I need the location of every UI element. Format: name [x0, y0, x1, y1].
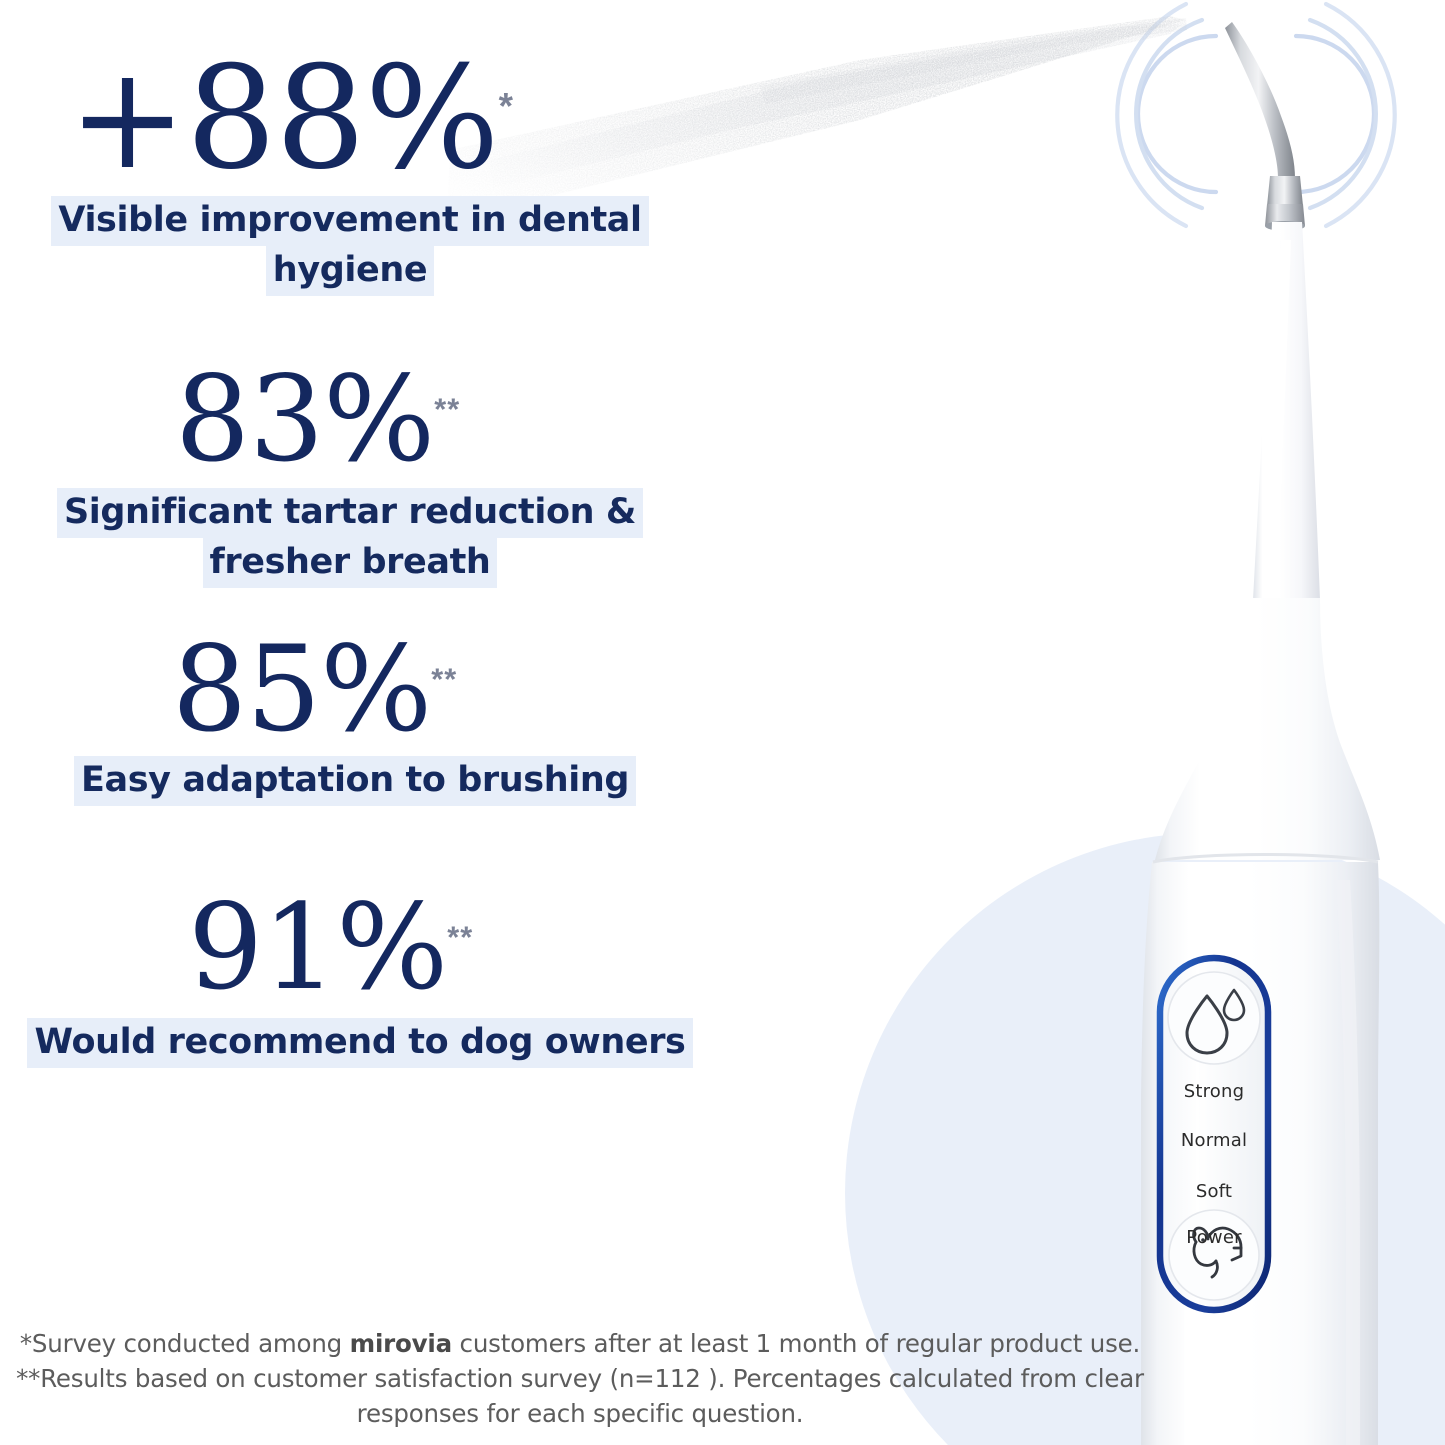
stat-label-line: Significant tartar reduction &	[57, 488, 643, 538]
stat-block-88: +88%* Visible improvement in dental hygi…	[0, 48, 760, 296]
stat-label-line: Would recommend to dog owners	[27, 1018, 692, 1068]
footnote-marker-88: *	[499, 86, 514, 127]
footnote-disclaimer: *Survey conducted among mirovia customer…	[0, 1327, 1160, 1431]
stat-block-83: 83%** Significant tartar reduction & fre…	[0, 360, 760, 588]
mode-label-normal[interactable]: Normal	[1166, 1130, 1262, 1151]
stat-label-line: Visible improvement in dental	[51, 196, 648, 246]
stat-label-85: Easy adaptation to brushing	[0, 756, 710, 806]
stat-number-83: 83%	[175, 350, 434, 488]
footnote-marker-91: **	[447, 920, 473, 955]
device-shaft	[1253, 222, 1320, 600]
scaler-metal-tip	[1225, 22, 1305, 231]
stat-label-91: Would recommend to dog owners	[0, 1018, 720, 1068]
footnote-line-2: **Results based on customer satisfaction…	[16, 1364, 1144, 1393]
stat-number-88: +88%	[68, 36, 499, 201]
mode-label-soft[interactable]: Soft	[1166, 1181, 1262, 1202]
footnote-line-3: responses for each specific question.	[357, 1399, 804, 1428]
mode-label-strong[interactable]: Strong	[1166, 1081, 1262, 1102]
stat-value-88: +88%*	[0, 48, 760, 190]
stat-number-85: 85%	[172, 620, 431, 758]
stat-label-line: hygiene	[266, 246, 434, 296]
brand-name: mirovia	[350, 1329, 452, 1358]
marketing-image-canvas: Strong Normal Soft Power	[0, 0, 1445, 1445]
stat-label-83: Significant tartar reduction & fresher b…	[0, 488, 700, 588]
footnote-text: customers after at least 1 month of regu…	[452, 1329, 1140, 1358]
footnote-text: *Survey conducted among	[20, 1329, 350, 1358]
stat-label-88: Visible improvement in dental hygiene	[0, 196, 700, 296]
stat-block-91: 91%** Would recommend to dog owners	[0, 888, 760, 1068]
footnote-marker-83: **	[434, 392, 460, 427]
mode-label-power[interactable]: Power	[1166, 1227, 1262, 1248]
stat-label-line: Easy adaptation to brushing	[74, 756, 636, 806]
sonic-wave-arcs-right	[1296, 4, 1395, 226]
stat-number-91: 91%	[188, 878, 447, 1016]
stat-value-91: 91%**	[0, 888, 760, 1006]
device-neck	[1155, 598, 1380, 860]
stat-label-line: fresher breath	[203, 538, 498, 588]
stat-value-85: 85%**	[0, 630, 760, 748]
footnote-line-1: *Survey conducted among mirovia customer…	[20, 1329, 1140, 1358]
stat-value-83: 83%**	[0, 360, 760, 478]
footnote-marker-85: **	[431, 662, 457, 697]
stat-block-85: 85%** Easy adaptation to brushing	[0, 630, 760, 806]
